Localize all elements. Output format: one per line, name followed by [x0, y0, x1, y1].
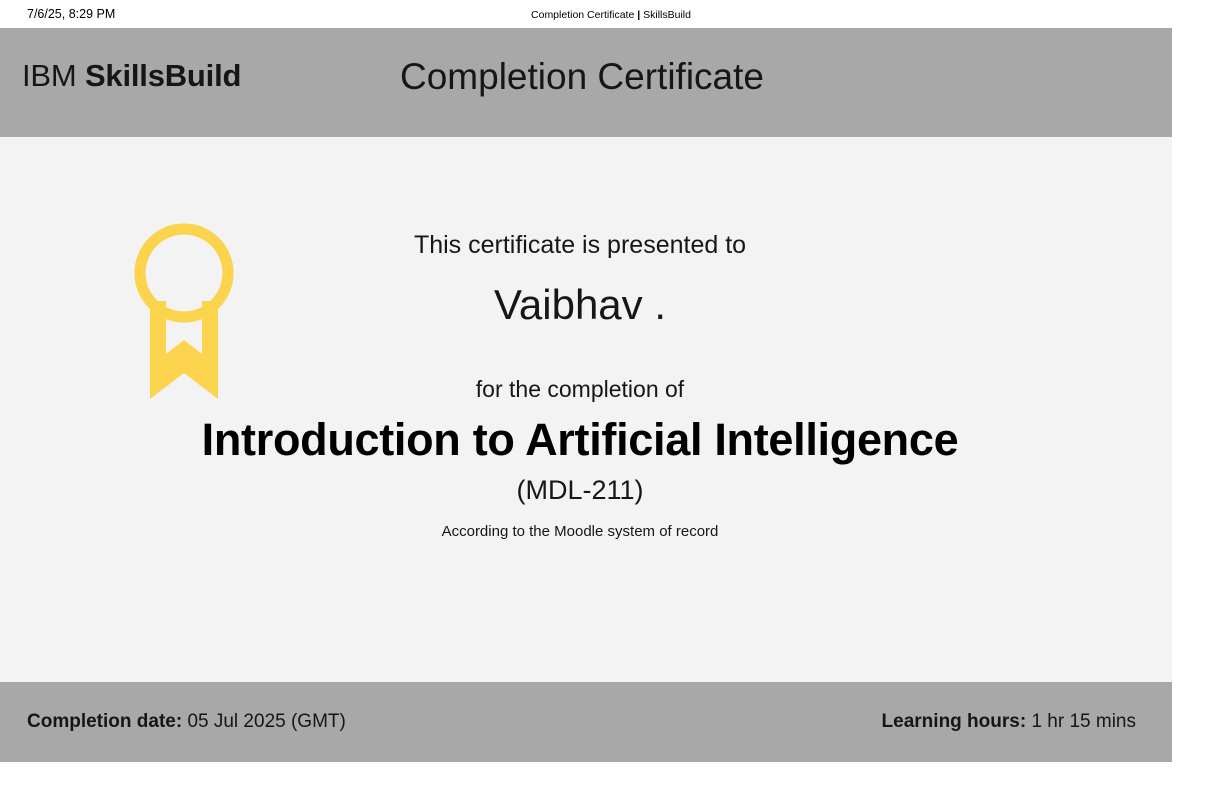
- certificate-header-band: IBM SkillsBuild Completion Certificate: [0, 28, 1172, 137]
- print-site-name: SkillsBuild: [643, 9, 691, 21]
- print-page-title: Completion Certificate | SkillsBuild: [0, 9, 1222, 21]
- course-code: (MDL-211): [180, 474, 980, 506]
- learning-hours-value: 1 hr 15 mins: [1031, 711, 1136, 732]
- recipient-name: Vaibhav .: [180, 280, 980, 330]
- ibm-skillsbuild-logo: IBM SkillsBuild: [22, 58, 241, 94]
- brand-ibm-text: IBM: [22, 58, 77, 93]
- learning-hours-label: Learning hours:: [882, 711, 1027, 732]
- certificate-text-block: This certificate is presented to Vaibhav…: [180, 137, 980, 541]
- completion-date-value: 05 Jul 2025 (GMT): [187, 711, 345, 732]
- certificate-footer-band: Completion date: 05 Jul 2025 (GMT) Learn…: [0, 682, 1172, 762]
- for-completion-label: for the completion of: [180, 376, 980, 404]
- completion-date: Completion date: 05 Jul 2025 (GMT): [27, 711, 346, 733]
- browser-print-header: 7/6/25, 8:29 PM Completion Certificate |…: [0, 0, 1222, 28]
- course-title: Introduction to Artificial Intelligence: [180, 412, 980, 468]
- learning-hours: Learning hours: 1 hr 15 mins: [882, 711, 1136, 733]
- brand-skillsbuild-text: SkillsBuild: [85, 58, 241, 93]
- print-title-separator: |: [637, 9, 640, 21]
- system-of-record-note: According to the Moodle system of record: [180, 523, 980, 541]
- certificate-header-title: Completion Certificate: [400, 56, 764, 98]
- print-page-title-text: Completion Certificate: [531, 9, 634, 21]
- completion-certificate: IBM SkillsBuild Completion Certificate T…: [0, 28, 1172, 762]
- certificate-body: This certificate is presented to Vaibhav…: [0, 137, 1172, 682]
- completion-date-label: Completion date:: [27, 711, 182, 732]
- presented-to-label: This certificate is presented to: [180, 230, 980, 260]
